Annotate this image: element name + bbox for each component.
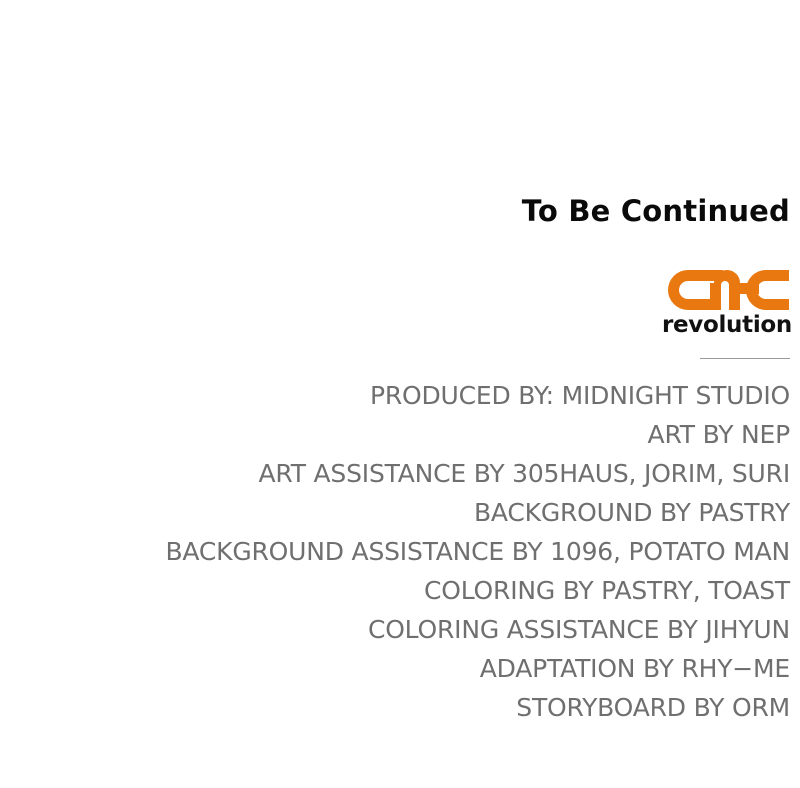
cnc-logo-icon: [666, 268, 792, 312]
credits-list: PRODUCED BY: MIDNIGHT STUDIO ART BY NEP …: [10, 376, 790, 727]
credit-line: STORYBOARD BY ORM: [10, 688, 790, 727]
credit-line: ART BY NEP: [10, 415, 790, 454]
credit-line: COLORING ASSISTANCE BY JIHYUN: [10, 610, 790, 649]
credit-line: ADAPTATION BY RHY−ME: [10, 649, 790, 688]
credit-line: PRODUCED BY: MIDNIGHT STUDIO: [10, 376, 790, 415]
logo-wordmark: revolution: [660, 313, 792, 337]
credit-line: BACKGROUND ASSISTANCE BY 1096, POTATO MA…: [10, 532, 790, 571]
credit-line: COLORING BY PASTRY, TOAST: [10, 571, 790, 610]
endcard-page: To Be Continued revolution PRODUCED BY: …: [0, 0, 800, 788]
to-be-continued-text: To Be Continued: [522, 196, 790, 228]
credit-line: BACKGROUND BY PASTRY: [10, 493, 790, 532]
credit-line: ART ASSISTANCE BY 305HAUS, JORIM, SURI: [10, 454, 790, 493]
publisher-logo: revolution: [660, 268, 792, 337]
section-divider: [700, 358, 790, 359]
